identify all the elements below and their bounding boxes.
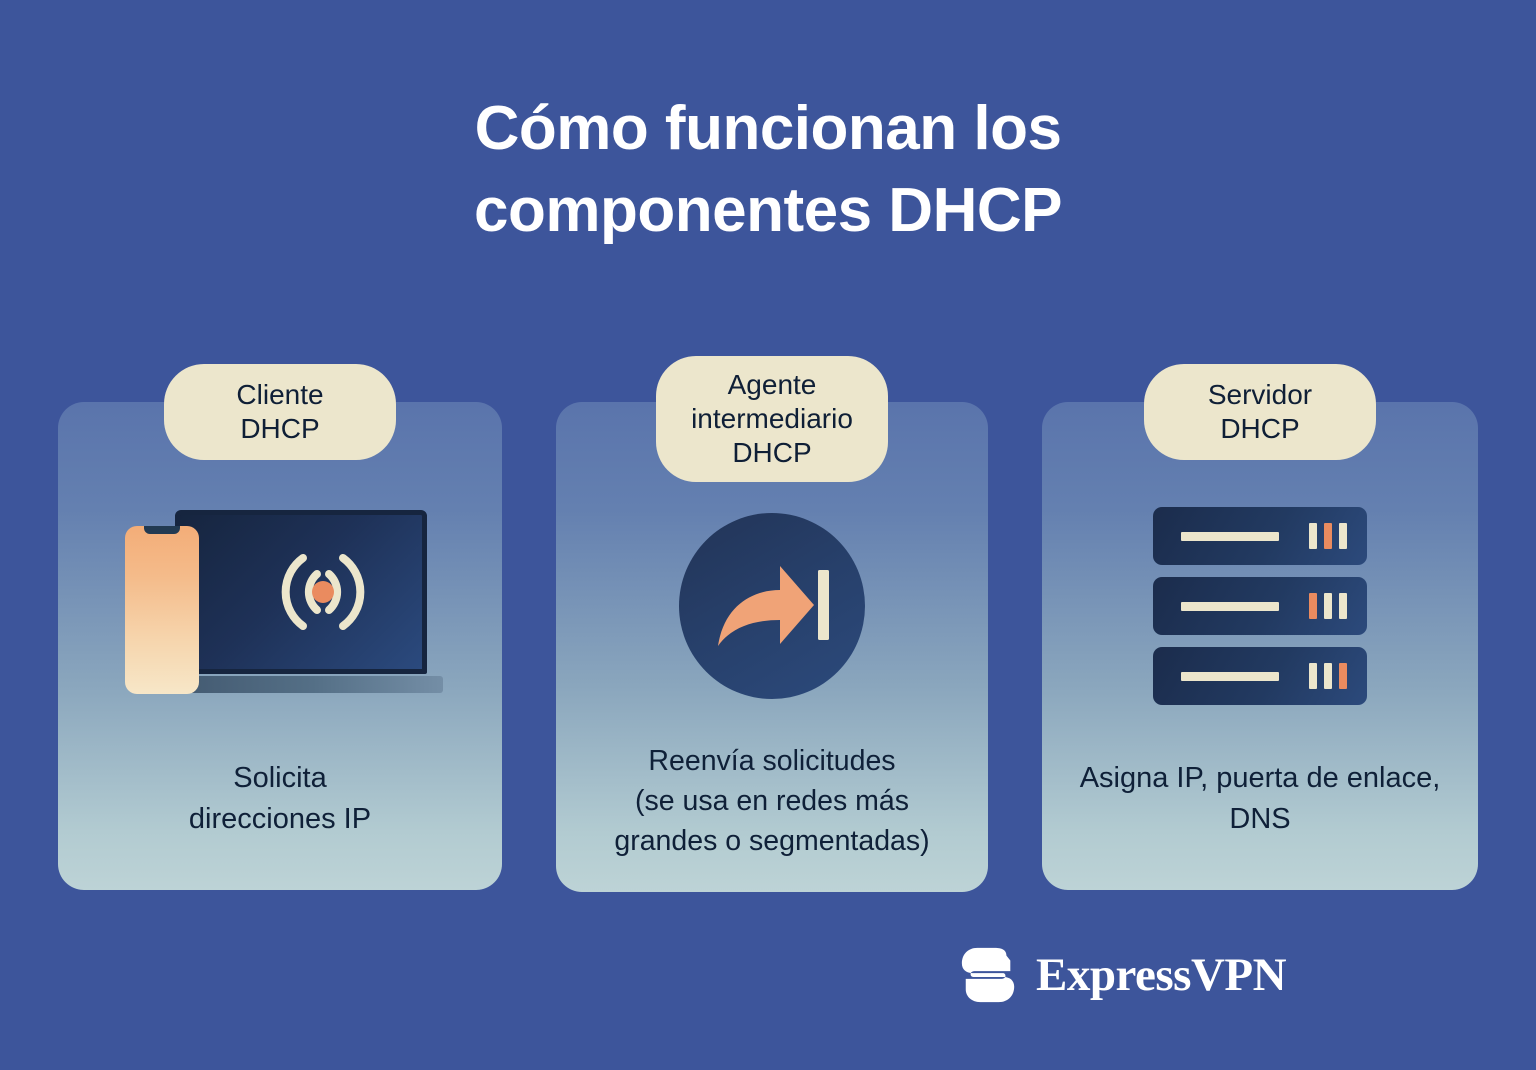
server-led-group — [1309, 523, 1347, 549]
card-dhcp-relay-agent-icon-area — [556, 500, 988, 712]
card-dhcp-client-icon-area — [58, 500, 502, 712]
server-led — [1309, 663, 1317, 689]
wifi-signal-icon — [263, 544, 383, 640]
server-label-line — [1181, 532, 1279, 541]
server-led-group — [1309, 593, 1347, 619]
page-title-line-1: Cómo funcionan los — [240, 88, 1296, 170]
expressvpn-wordmark: ExpressVPN — [1036, 952, 1286, 999]
forward-arrow-circle-icon — [679, 513, 865, 699]
server-row — [1153, 647, 1367, 705]
server-stack-icon — [1153, 507, 1367, 705]
phone-notch-icon — [144, 526, 180, 534]
server-label-line — [1181, 672, 1279, 681]
card-dhcp-relay-agent: Agente intermediario DHCP Reenvía solici… — [556, 402, 988, 892]
server-led — [1324, 593, 1332, 619]
server-label-line — [1181, 602, 1279, 611]
card-dhcp-client: Cliente DHCP — [58, 402, 502, 890]
page-title-block: Cómo funcionan los componentes DHCP — [0, 88, 1536, 252]
server-led-active — [1309, 593, 1317, 619]
card-dhcp-relay-agent-pill: Agente intermediario DHCP — [656, 356, 888, 482]
card-dhcp-client-caption: Solicita direcciones IP — [175, 758, 385, 839]
server-led — [1324, 663, 1332, 689]
card-dhcp-relay-agent-caption: Reenvía solicitudes (se usa en redes más… — [600, 742, 943, 862]
server-led — [1339, 593, 1347, 619]
server-row — [1153, 507, 1367, 565]
card-dhcp-server-icon-area — [1042, 500, 1478, 712]
page-title: Cómo funcionan los componentes DHCP — [240, 88, 1296, 252]
forward-arrow-icon — [714, 560, 830, 652]
component-cards-row: Cliente DHCP — [58, 402, 1478, 894]
server-led-active — [1339, 663, 1347, 689]
card-dhcp-client-pill: Cliente DHCP — [164, 364, 396, 460]
server-led-active — [1324, 523, 1332, 549]
card-dhcp-server-caption: Asigna IP, puerta de enlace, DNS — [1076, 758, 1445, 839]
server-led — [1309, 523, 1317, 549]
page-title-line-2: componentes DHCP — [240, 170, 1296, 252]
server-row — [1153, 577, 1367, 635]
laptop-phone-wifi-icon — [115, 504, 445, 709]
card-dhcp-server-pill: Servidor DHCP — [1144, 364, 1376, 460]
server-led — [1339, 523, 1347, 549]
card-dhcp-server: Servidor DHCP — [1042, 402, 1478, 890]
expressvpn-logo: ExpressVPN — [958, 944, 1286, 1006]
expressvpn-e-mark — [958, 944, 1020, 1006]
server-led-group — [1309, 663, 1347, 689]
smartphone-icon — [125, 526, 199, 694]
